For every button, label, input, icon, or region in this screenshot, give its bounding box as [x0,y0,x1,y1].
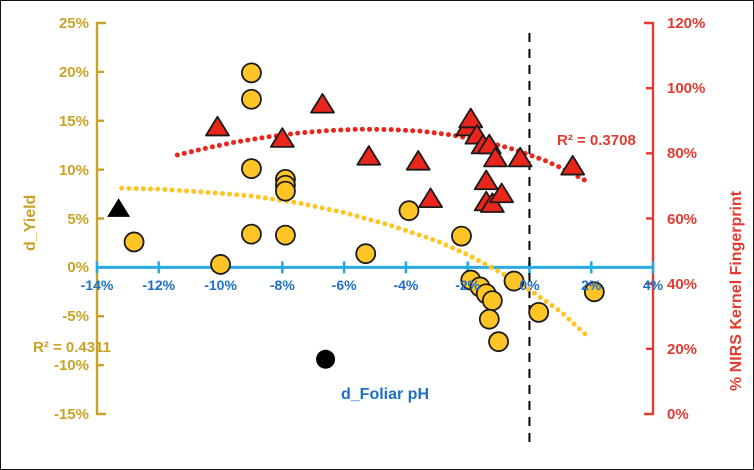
yield-trendline-dot [141,186,146,191]
yield-trendline-dot [450,245,455,250]
yield-trendline-dot [191,189,196,194]
nirs-trendline-dot [556,164,561,169]
yield-trendline-dot [572,321,577,326]
yield-trendline-dot [220,191,225,196]
data-point-circle [356,244,375,263]
y-axis-right-tick-label: 100% [667,81,727,96]
nirs-trendline-dot [175,152,180,157]
data-point-circle [242,159,261,178]
nirs-trendline-dot [210,144,215,149]
data-point-circle [452,227,471,246]
nirs-trendline-dot [267,134,272,139]
yield-trendline-dot [361,216,366,221]
x-axis-title: d_Foliar pH [341,387,429,403]
yield-trendline-dot [241,193,246,198]
yield-trendline-dot [538,295,543,300]
data-point-circle [242,63,261,82]
nirs-trendline-dot [203,146,208,151]
yield-trendline-dot [555,307,560,312]
yield-trendline-dot [162,187,167,192]
yield-trendline-dot [470,255,475,260]
nirs-trendline-dot [302,130,307,135]
nirs-trendline-dot [338,128,343,133]
data-point-triangle [407,151,430,170]
nirs-trendline-dot [259,135,264,140]
yield-trendline-dot [417,232,422,237]
x-axis-tick-label: -4% [376,278,436,292]
nirs-trendline-dot [345,127,350,132]
data-point-circle [316,350,335,369]
data-point-circle [276,182,295,201]
nirs-trendline-dot [502,144,507,149]
yield-trendline-dot [291,200,296,205]
yield-trendline-dot [227,192,232,197]
yield-trendline-dot [177,188,182,193]
nirs-trendline-dot [543,158,548,163]
data-point-triangle [459,109,482,128]
yield-trendline-dot [382,221,387,226]
nirs-trendline-dot [324,128,329,133]
yield-trendline-dot [482,261,487,266]
yield-trendline-dot [403,228,408,233]
x-axis-tick-label: -2% [438,278,498,292]
yield-trendline-dot [375,219,380,224]
data-point-circle [125,232,144,251]
nirs-trendline-dot [360,127,365,132]
y-axis-left-tick-label: -10% [9,358,89,373]
yield-trendline-dot [550,303,555,308]
yield-trendline-dot [198,189,203,194]
y-axis-left-tick-label: 20% [9,65,89,80]
y-axis-left-tick-label: 10% [9,163,89,178]
nirs-trendline-dot [403,128,408,133]
yield-trendline-dot [577,326,582,331]
data-point-triangle [419,188,442,207]
yield-trendline-dot [566,317,571,322]
x-axis-tick-label: -6% [314,278,374,292]
yield-trendline-dot [457,248,462,253]
yield-trendline-dot [256,195,261,200]
data-point-circle [211,255,230,274]
y-axis-right-tick-label: 20% [667,342,727,357]
data-point-circle [399,201,418,220]
yield-trendline-dot [298,201,303,206]
yield-trendline-dot [437,240,442,245]
data-point-circle [529,303,548,322]
r2-label-yield: R² = 0.4311 [33,340,111,355]
y-axis-right-title: % NIRS Kernel Fingerprint [729,191,745,391]
yield-trendline-dot [184,188,189,193]
yield-trendline-dot [126,186,131,191]
yield-trendline-dot [334,208,339,213]
yield-trendline-dot [582,331,587,336]
yield-trendline-dot [213,190,218,195]
nirs-trendline-dot [182,151,187,156]
x-axis-tick-label: -12% [129,278,189,292]
yield-trendline-dot [561,312,566,317]
nirs-trendline-dot [231,140,236,145]
nirs-trendline-dot [367,127,372,132]
nirs-trendline-dot [417,129,422,134]
yield-trendline-dot [134,186,139,191]
nirs-trendline-dot [217,143,222,148]
data-point-triangle [475,171,498,190]
y-axis-left-tick-label: 0% [9,260,89,275]
x-axis-tick-label: -14% [67,278,127,292]
nirs-trendline-dot [446,132,451,137]
y-axis-right-tick-label: 60% [667,212,727,227]
x-axis-tick-label: 0% [499,278,559,292]
x-axis-tick-label: 4% [623,278,683,292]
y-axis-left-tick-label: 15% [9,114,89,129]
yield-trendline-dot [119,186,124,191]
yield-trendline-dot [170,188,175,193]
data-point-triangle [311,94,334,113]
yield-trendline-dot [234,192,239,197]
chart-figure: d_Yield % NIRS Kernel Fingerprint d_Foli… [0,0,754,470]
nirs-trendline-dot [530,153,535,158]
yield-trendline-dot [305,202,310,207]
yield-trendline-dot [495,268,500,273]
nirs-trendline-dot [410,128,415,133]
data-point-circle [276,226,295,245]
nirs-trendline-dot [317,129,322,134]
yield-trendline-dot [489,265,494,270]
yield-trendline-dot [544,299,549,304]
yield-trendline-dot [389,223,394,228]
yield-trendline-dot [341,210,346,215]
yield-trendline-dot [155,187,160,192]
nirs-trendline-dot [550,161,555,166]
nirs-trendline-dot [374,127,379,132]
nirs-trendline-dot [509,146,514,151]
nirs-trendline-dot [224,141,229,146]
nirs-trendline-dot [536,156,541,161]
y-axis-left-tick-label: -5% [9,309,89,324]
nirs-trendline-dot [245,138,250,143]
yield-trendline-dot [263,196,268,201]
nirs-trendline-dot [582,177,587,182]
yield-trendline-dot [205,190,210,195]
y-axis-left-tick-label: 5% [9,212,89,227]
data-point-triangle [206,117,229,136]
yield-trendline-dot [320,205,325,210]
yield-trendline-dot [249,193,254,198]
nirs-trendline-dot [189,149,194,154]
yield-trendline-dot [463,251,468,256]
yield-trendline-dot [312,204,317,209]
nirs-trendline-dot [252,136,257,141]
data-point-circle [242,90,261,109]
yield-trendline-dot [348,212,353,217]
yield-trendline-dot [476,258,481,263]
yield-trendline-dot [410,230,415,235]
data-point-circle [480,310,499,329]
y-axis-left-tick-label: 25% [9,16,89,31]
data-point-circle [483,291,502,310]
yield-trendline-dot [355,214,360,219]
x-axis-tick-label: -10% [191,278,251,292]
nirs-trendline-dot [439,131,444,136]
yield-trendline-dot [430,237,435,242]
data-point-triangle [271,128,294,147]
y-axis-right-tick-label: 80% [667,146,727,161]
nirs-trendline-dot [396,127,401,132]
yield-trendline-dot [396,226,401,231]
y-axis-right-tick-label: 120% [667,16,727,31]
nirs-trendline-dot [288,132,293,137]
data-point-circle [489,332,508,351]
nirs-trendline-dot [432,130,437,135]
nirs-trendline-dot [309,129,314,134]
y-axis-right-tick-label: 0% [667,407,727,422]
nirs-trendline-dot [425,129,430,134]
yield-trendline [119,186,587,337]
data-point-triangle [357,146,380,165]
y-axis-left-tick-label: -15% [9,407,89,422]
nirs-trendline-dot [295,131,300,136]
x-axis-tick-label: -8% [252,278,312,292]
x-axis-tick-label: 2% [561,278,621,292]
data-point-triangle [561,156,584,175]
nirs-trendline-dot [196,148,201,153]
data-point-triangle [107,198,130,217]
data-point-circle [242,225,261,244]
yield-trendline-dot [148,186,153,191]
yield-trendline-dot [423,235,428,240]
yield-trendline-dot [327,207,332,212]
r2-label-nirs: R² = 0.3708 [557,133,636,148]
nirs-trendline-dot [381,127,386,132]
nirs-trendline-dot [389,127,394,132]
yield-trendline-dot [270,197,275,202]
yield-trendline-dot [368,217,373,222]
yield-trendline-dot [443,243,448,248]
nirs-trendline-dot [238,139,243,144]
nirs-trendline-dot [353,127,358,132]
nirs-trendline-dot [331,128,336,133]
